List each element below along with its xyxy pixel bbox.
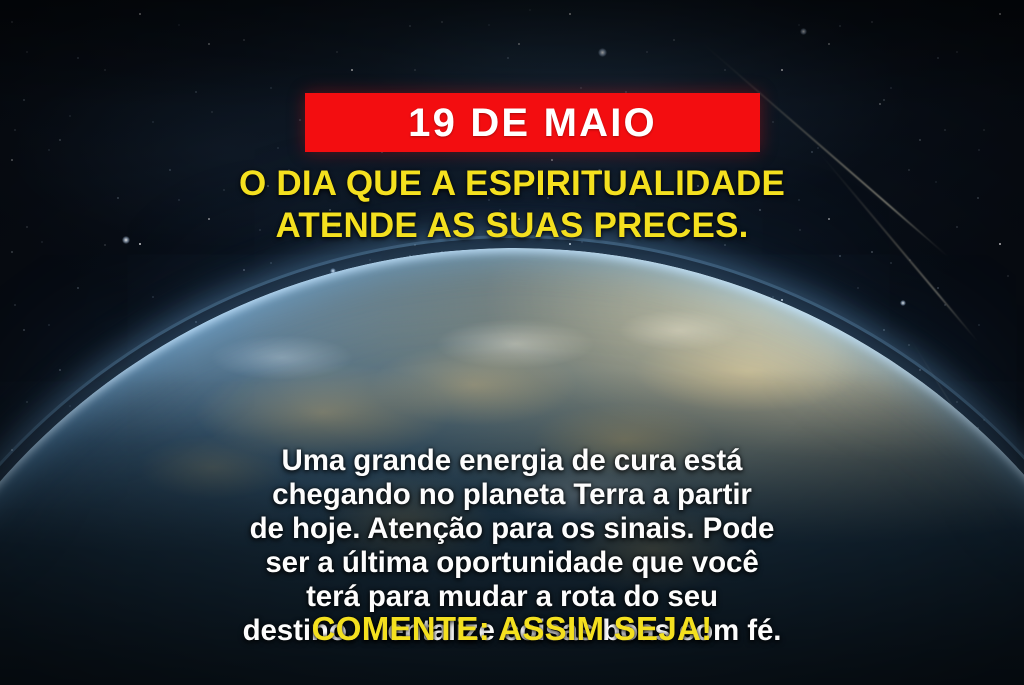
body-line-4: ser a última oportunidade que você	[52, 546, 972, 580]
call-to-action: COMENTE: ASSIM SEJA!	[0, 612, 1024, 645]
body-line-1: Uma grande energia de cura está	[52, 444, 972, 478]
date-banner: 19 DE MAIO	[305, 93, 760, 152]
poster-content: 19 DE MAIO O DIA QUE A ESPIRITUALIDADE A…	[0, 0, 1024, 685]
body-line-3: de hoje. Atenção para os sinais. Pode	[52, 512, 972, 546]
body-line-2: chegando no planeta Terra a partir	[52, 478, 972, 512]
headline-line-1: O DIA QUE A ESPIRITUALIDADE	[239, 164, 785, 203]
headline: O DIA QUE A ESPIRITUALIDADE ATENDE AS SU…	[0, 163, 1024, 247]
social-media-poster: 19 DE MAIO O DIA QUE A ESPIRITUALIDADE A…	[0, 0, 1024, 685]
date-banner-label: 19 DE MAIO	[408, 103, 657, 143]
call-to-action-label: COMENTE: ASSIM SEJA!	[312, 610, 713, 647]
headline-line-2: ATENDE AS SUAS PRECES.	[40, 205, 984, 247]
